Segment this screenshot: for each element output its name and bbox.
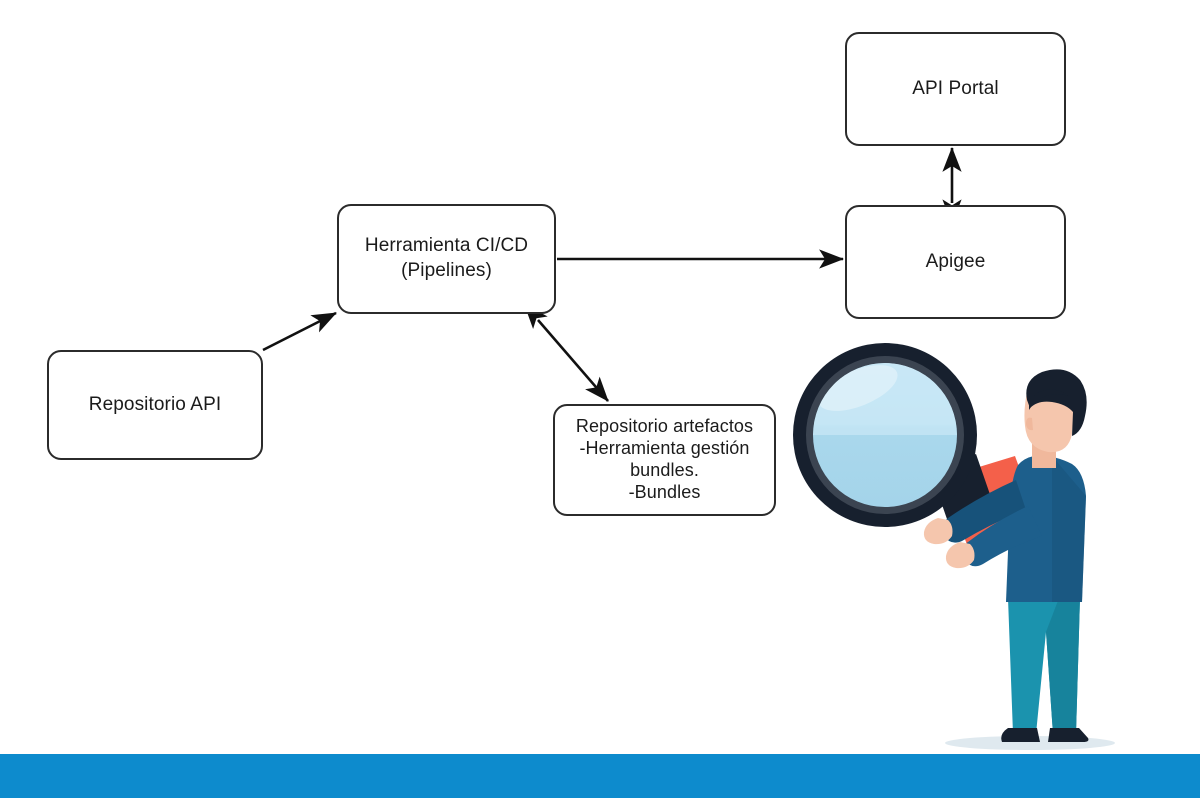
person-with-magnifying-glass-illustration xyxy=(780,330,1120,755)
node-repositorio-artefactos-line-1: Repositorio artefactos xyxy=(576,416,753,438)
bottom-accent-bar xyxy=(0,754,1200,798)
hand-back-shape xyxy=(924,518,953,544)
node-repositorio-artefactos[interactable]: Repositorio artefactos -Herramienta gest… xyxy=(553,404,776,516)
shoe-left-shape xyxy=(1001,728,1040,742)
shoe-right-shape xyxy=(1048,728,1088,742)
node-repositorio-artefactos-line-2: -Herramienta gestión xyxy=(579,438,749,460)
node-repositorio-api-line-1: Repositorio API xyxy=(89,393,221,418)
node-herramienta-cicd-line-1: Herramienta CI/CD xyxy=(365,234,528,259)
node-apigee[interactable]: Apigee xyxy=(845,205,1066,319)
node-apigee-line-1: Apigee xyxy=(926,250,986,275)
node-repositorio-artefactos-line-3: bundles. xyxy=(630,460,699,482)
diagram-canvas: API Portal Apigee Herramienta CI/CD (Pip… xyxy=(0,0,1200,798)
hand-front-shape xyxy=(946,542,975,568)
node-repositorio-artefactos-line-4: -Bundles xyxy=(629,482,701,504)
node-api-portal-line-1: API Portal xyxy=(912,77,999,102)
node-api-portal[interactable]: API Portal xyxy=(845,32,1066,146)
node-herramienta-cicd[interactable]: Herramienta CI/CD (Pipelines) xyxy=(337,204,556,314)
connector-cicd-to-artefactos xyxy=(538,320,608,401)
connector-repo-api-to-cicd xyxy=(263,313,336,350)
node-repositorio-api[interactable]: Repositorio API xyxy=(47,350,263,460)
magnifier-icon xyxy=(793,343,977,527)
node-herramienta-cicd-line-2: (Pipelines) xyxy=(401,259,492,284)
